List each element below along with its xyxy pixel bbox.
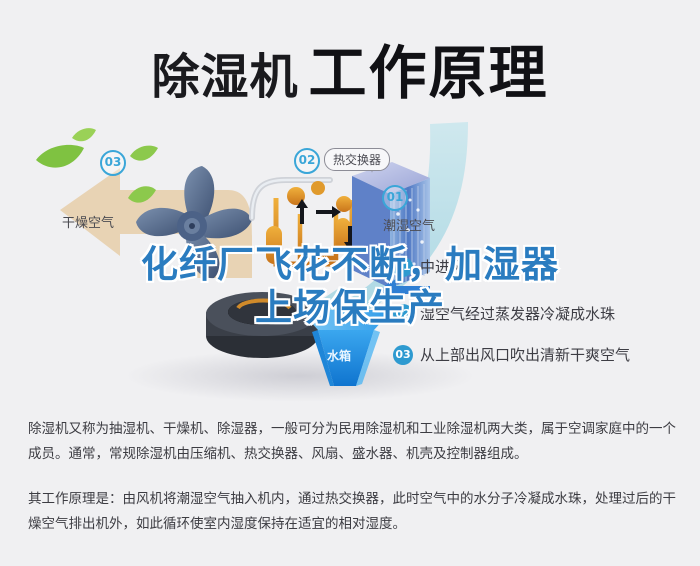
label-humid-air: 潮湿空气 (383, 215, 435, 234)
step-label: 从上部出风口吹出清新干爽空气 (420, 344, 630, 365)
page-title-part-a: 除湿机 (151, 49, 298, 105)
badge-dry-air: 03 (100, 150, 126, 176)
page-title: 除湿机工作原理 (0, 26, 700, 110)
label-dry-air: 干燥空气 (62, 212, 114, 231)
bubble-heat-exchanger: 热交换器 (324, 148, 390, 171)
infographic-page: 除湿机工作原理 (0, 0, 700, 566)
overlay-headline-line2: 上场保生产 (0, 286, 700, 329)
step-number: 03 (393, 345, 413, 365)
overlay-headline: 化纤厂飞花不断，加湿器 上场保生产 (0, 243, 700, 329)
badge-humid-air: 01 (382, 185, 408, 211)
body-paragraph-1: 除湿机又称为抽湿机、干燥机、除湿器，一般可分为民用除湿机和工业除湿机两大类，属于… (28, 417, 676, 467)
overlay-headline-line1: 化纤厂飞花不断，加湿器 (0, 243, 700, 286)
label-water-tank: 水箱 (327, 347, 351, 364)
step-item-03: 03 从上部出风口吹出清新干爽空气 (393, 344, 630, 365)
body-paragraph-2: 其工作原理是：由风机将潮湿空气抽入机内，通过热交换器，此时空气中的水分子冷凝成水… (28, 487, 676, 537)
page-title-part-b: 工作原理 (309, 39, 549, 107)
badge-heat-exchanger: 02 (294, 148, 320, 174)
